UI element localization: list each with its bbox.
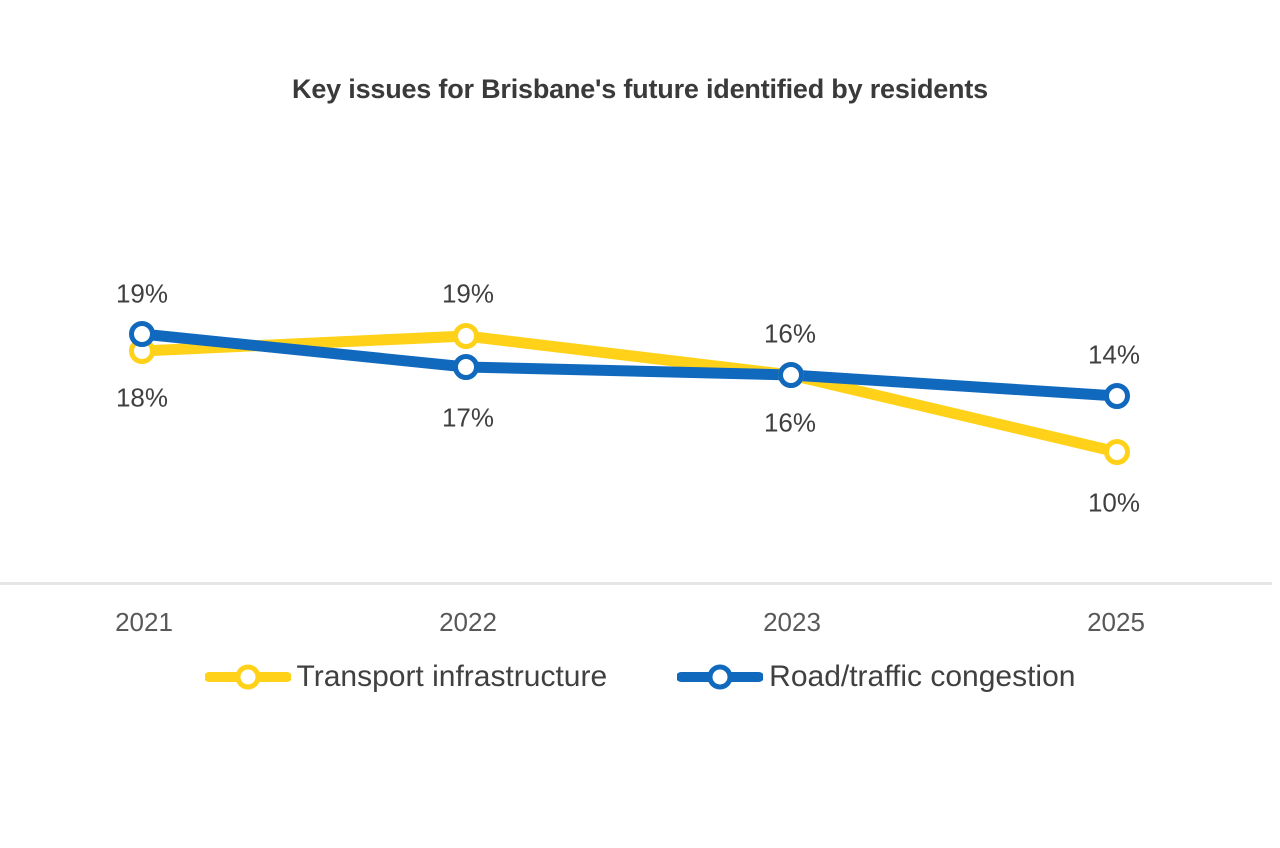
- x-axis-line: [0, 582, 1272, 585]
- plot-area: [0, 0, 1280, 848]
- series-line-transport-infrastructure: [142, 336, 1117, 452]
- series-line-road-traffic-congestion: [142, 334, 1117, 396]
- x-axis-tick-labels: 2021 2022 2023 2025: [0, 607, 1280, 647]
- data-point-marker: [456, 357, 477, 378]
- data-label: 18%: [116, 383, 168, 414]
- x-axis-tick-2022: 2022: [439, 607, 497, 638]
- data-point-marker: [132, 341, 153, 362]
- x-axis-tick-2023: 2023: [763, 607, 821, 638]
- legend-marker-icon: [205, 663, 291, 691]
- legend-item-road-traffic-congestion[interactable]: Road/traffic congestion: [677, 662, 1075, 692]
- legend-label-transport-infrastructure: Transport infrastructure: [297, 662, 608, 692]
- data-label: 16%: [764, 319, 816, 350]
- legend-label-road-traffic-congestion: Road/traffic congestion: [769, 662, 1075, 692]
- chart-title: Key issues for Brisbane's future identif…: [0, 74, 1280, 105]
- series-canvas: [0, 0, 1280, 848]
- data-point-marker: [1107, 442, 1128, 463]
- data-point-marker: [1107, 386, 1128, 407]
- legend-item-transport-infrastructure[interactable]: Transport infrastructure: [205, 662, 608, 692]
- legend-marker-icon: [677, 663, 763, 691]
- data-point-marker: [781, 365, 802, 386]
- data-label: 19%: [116, 279, 168, 310]
- data-point-marker: [132, 324, 153, 345]
- data-point-marker: [456, 326, 477, 347]
- data-label: 14%: [1088, 340, 1140, 371]
- x-axis-tick-2021: 2021: [115, 607, 173, 638]
- data-label: 19%: [442, 279, 494, 310]
- chart-legend: Transport infrastructure Road/traffic co…: [0, 662, 1280, 692]
- chart-container: Key issues for Brisbane's future identif…: [0, 0, 1280, 848]
- data-point-marker: [781, 365, 802, 386]
- x-axis-tick-2025: 2025: [1087, 607, 1145, 638]
- data-label: 10%: [1088, 488, 1140, 519]
- data-label: 17%: [442, 403, 494, 434]
- data-label: 16%: [764, 408, 816, 439]
